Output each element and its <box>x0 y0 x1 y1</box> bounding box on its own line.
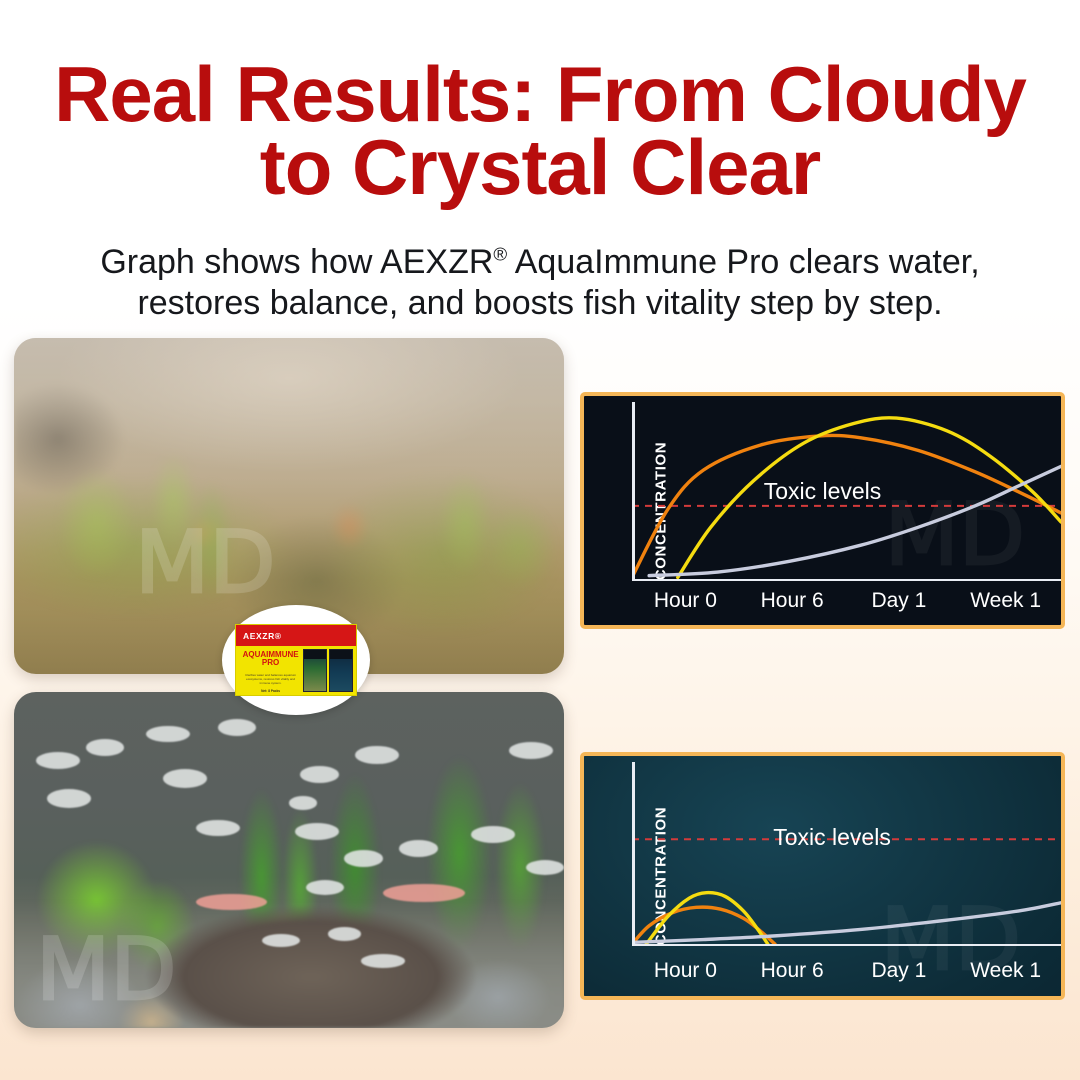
subtitle-line-1-b: AquaImmune Pro clears water, <box>507 243 979 281</box>
product-badge[interactable]: AEXZR® AQUAIMMUNE PRO Clarifies water an… <box>222 605 370 715</box>
x-tick: Week 1 <box>952 589 1059 613</box>
x-tick: Hour 0 <box>632 589 739 613</box>
x-axis-ticks-untreated: Hour 0 Hour 6 Day 1 Week 1 <box>632 589 1059 613</box>
registered-mark-icon: ® <box>493 244 507 265</box>
y-axis-line <box>632 402 635 581</box>
x-axis-ticks-treated: Hour 0 Hour 6 Day 1 Week 1 <box>632 959 1059 983</box>
chart-untreated: CONCENTRATION ⅯⅮ Toxic levels Hour 0 Hou… <box>580 392 1065 629</box>
page-title: Real Results: From Cloudy to Crystal Cle… <box>0 58 1080 205</box>
product-photo-after <box>329 649 353 692</box>
toxic-threshold-label: Toxic levels <box>764 478 882 505</box>
chart-treated-svg <box>632 762 1061 946</box>
x-tick: Hour 6 <box>739 589 846 613</box>
product-brand: AEXZR® <box>236 625 356 646</box>
product-photo-before <box>303 649 327 692</box>
photo-clear-aquarium-after: ⅯⅮ <box>14 692 564 1028</box>
x-tick: Hour 0 <box>632 959 739 983</box>
x-axis-line <box>632 944 1061 946</box>
clear-tank-scene: ⅯⅮ <box>14 692 564 1028</box>
page-subtitle: Graph shows how AEXZR® AquaImmune Pro cl… <box>0 242 1080 325</box>
chart-untreated-inner: CONCENTRATION ⅯⅮ Toxic levels Hour 0 Hou… <box>584 396 1061 625</box>
subtitle-line-1-a: Graph shows how AEXZR <box>100 243 493 281</box>
x-tick: Hour 6 <box>739 959 846 983</box>
product-package: AEXZR® AQUAIMMUNE PRO Clarifies water an… <box>235 624 357 696</box>
product-text-panel: AQUAIMMUNE PRO Clarifies water and balan… <box>236 646 303 695</box>
plot-area-treated <box>632 762 1061 946</box>
chart-treated-inner: CONCENTRATION ⅯⅮ Toxic levels Hour 0 Hou… <box>584 756 1061 996</box>
x-tick: Day 1 <box>846 959 953 983</box>
headline-line-2: to Crystal Clear <box>18 131 1062 204</box>
chart-treated: CONCENTRATION ⅯⅮ Toxic levels Hour 0 Hou… <box>580 752 1065 1000</box>
x-tick: Day 1 <box>846 589 953 613</box>
y-axis-line <box>632 762 635 946</box>
product-package-body: AQUAIMMUNE PRO Clarifies water and balan… <box>236 646 356 695</box>
product-description: Clarifies water and balances aquarium ec… <box>241 673 300 685</box>
x-tick: Week 1 <box>952 959 1059 983</box>
product-net-quantity: Net: 8 Packs <box>241 689 300 693</box>
subtitle-line-2: restores balance, and boosts fish vitali… <box>48 283 1032 324</box>
product-photos <box>303 646 356 695</box>
product-name: AQUAIMMUNE PRO <box>241 651 300 668</box>
clear-substrate-rocks <box>14 900 564 1028</box>
toxic-threshold-label: Toxic levels <box>773 824 891 851</box>
x-axis-line <box>632 579 1061 581</box>
